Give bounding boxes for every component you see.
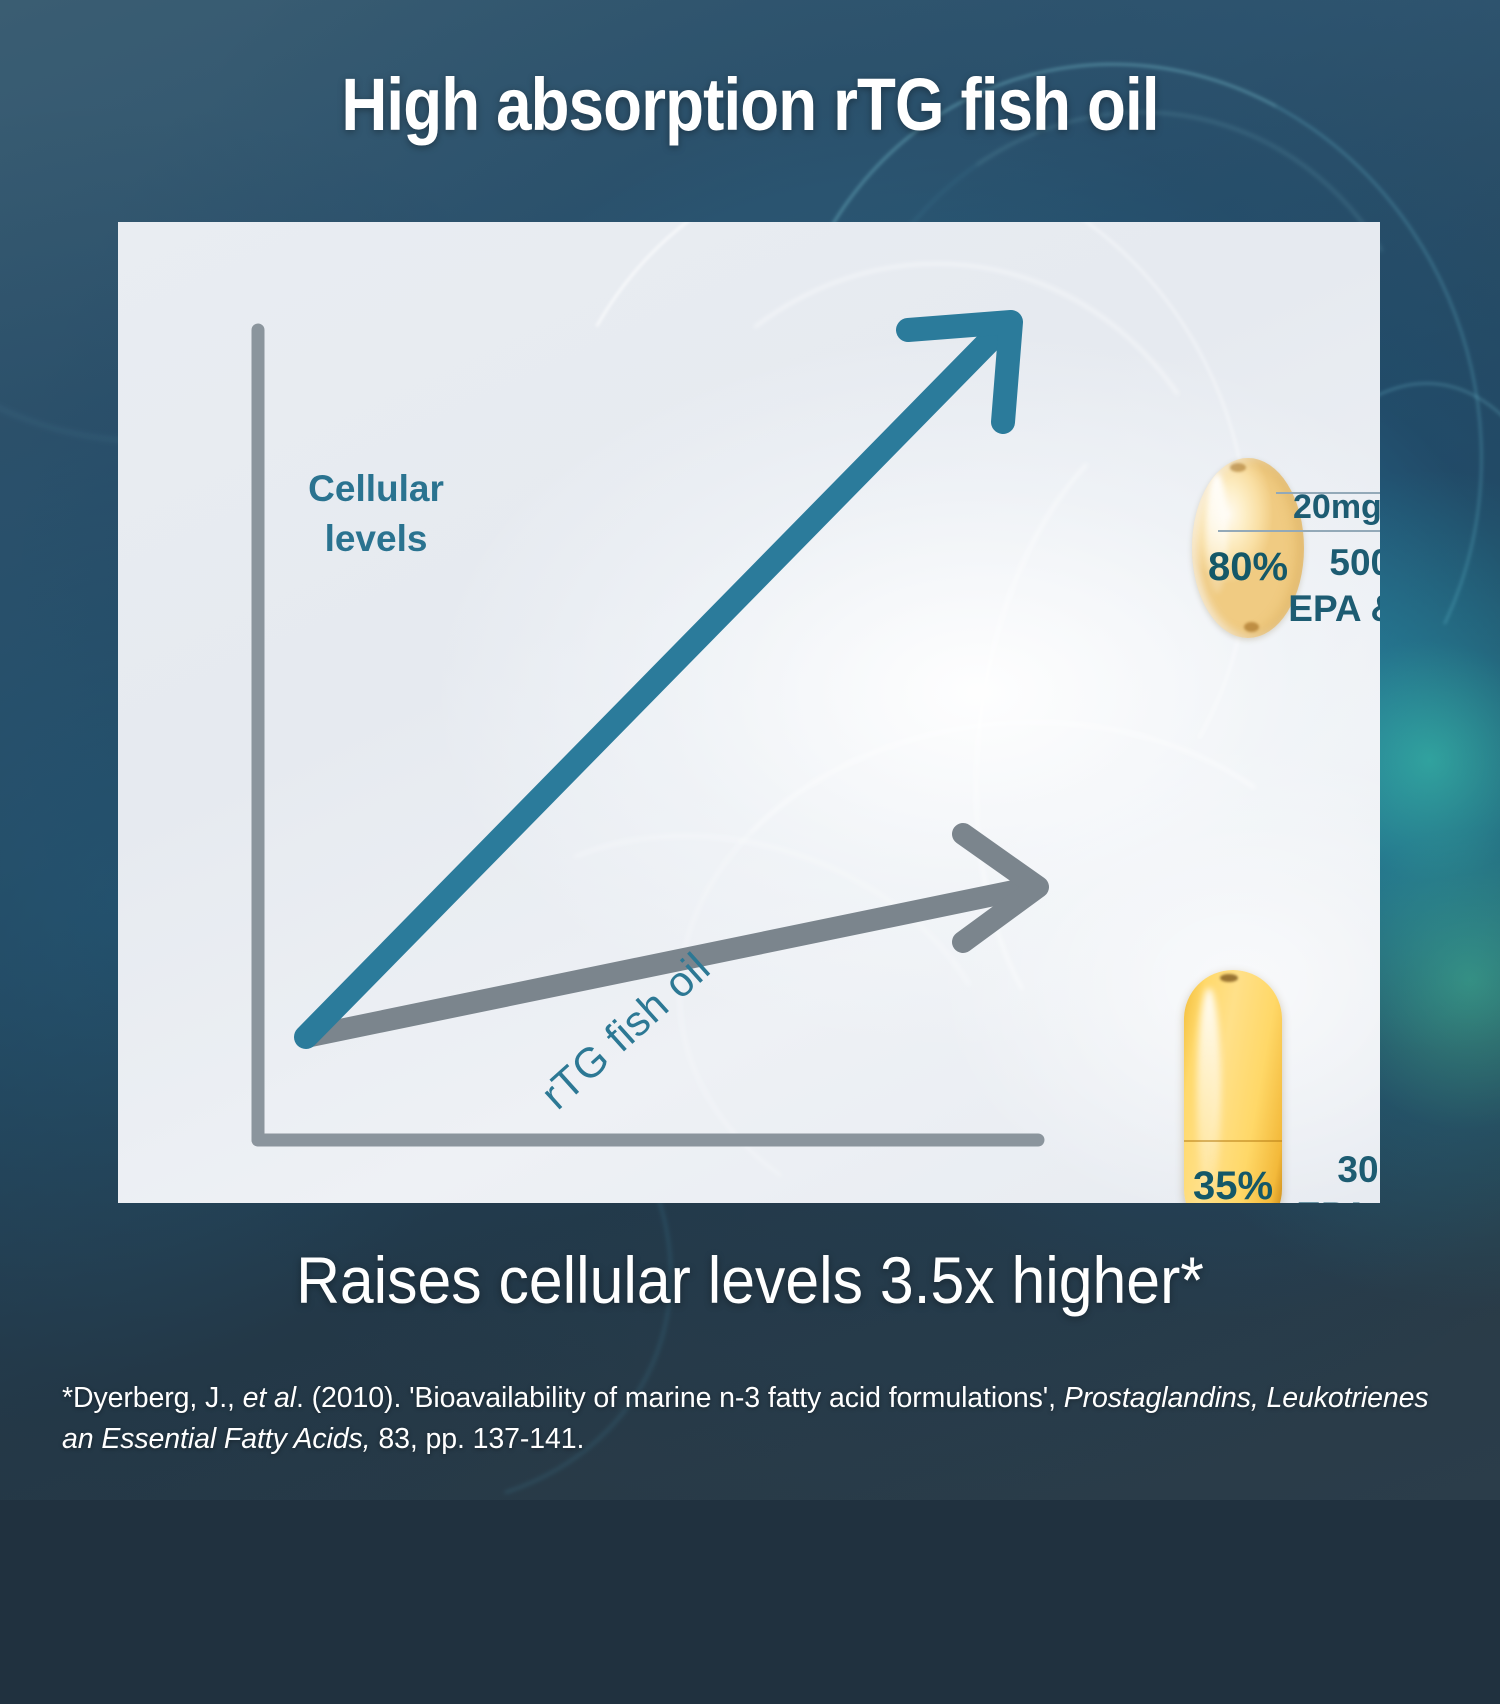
- y-axis-label: Cellular levels: [296, 464, 456, 564]
- standard-tg-capsule-percent: 35%: [1184, 1164, 1282, 1203]
- std-epa-line-2: EPA & DHA: [1296, 1193, 1380, 1203]
- standard-tg-capsule-seam: [1184, 1140, 1282, 1142]
- y-axis-label-line-1: Cellular: [296, 464, 456, 514]
- rtg-capsule-nub-top: [1230, 463, 1246, 472]
- rtg-capsule-percent: 80%: [1192, 545, 1304, 590]
- std-epa-line-1: 300mg: [1296, 1147, 1380, 1193]
- absorption-chart-panel: Cellular levels 14 days rTG fish oil sta…: [118, 222, 1380, 1203]
- rtg-epa-line-2: EPA & DHA: [1288, 586, 1380, 632]
- citation-italic-1: et al: [243, 1382, 296, 1414]
- page-title: High absorption rTG fish oil: [105, 62, 1395, 147]
- citation-footnote: *Dyerberg, J., et al. (2010). 'Bioavaila…: [62, 1378, 1442, 1460]
- standard-tg-capsule: 35%: [1184, 970, 1282, 1203]
- citation-part-1: *Dyerberg, J.,: [62, 1382, 243, 1414]
- rtg-capsule-nub-bottom: [1244, 622, 1259, 632]
- standard-tg-capsule-nub-top: [1220, 974, 1238, 982]
- rtg-arrow: [306, 322, 1011, 1037]
- subheadline: Raises cellular levels 3.5x higher*: [60, 1242, 1440, 1318]
- rtg-capsule-gla-label: 20mg GLA: [1293, 488, 1380, 527]
- gla-rule-lower: [1218, 530, 1380, 532]
- citation-part-2: . (2010). 'Bioavailability of marine n-3…: [296, 1382, 1064, 1414]
- citation-part-3: 83, pp. 137-141.: [371, 1423, 585, 1455]
- y-axis-label-line-2: levels: [296, 514, 456, 564]
- standard-tg-capsule-epa-label: 300mg EPA & DHA: [1296, 1147, 1380, 1203]
